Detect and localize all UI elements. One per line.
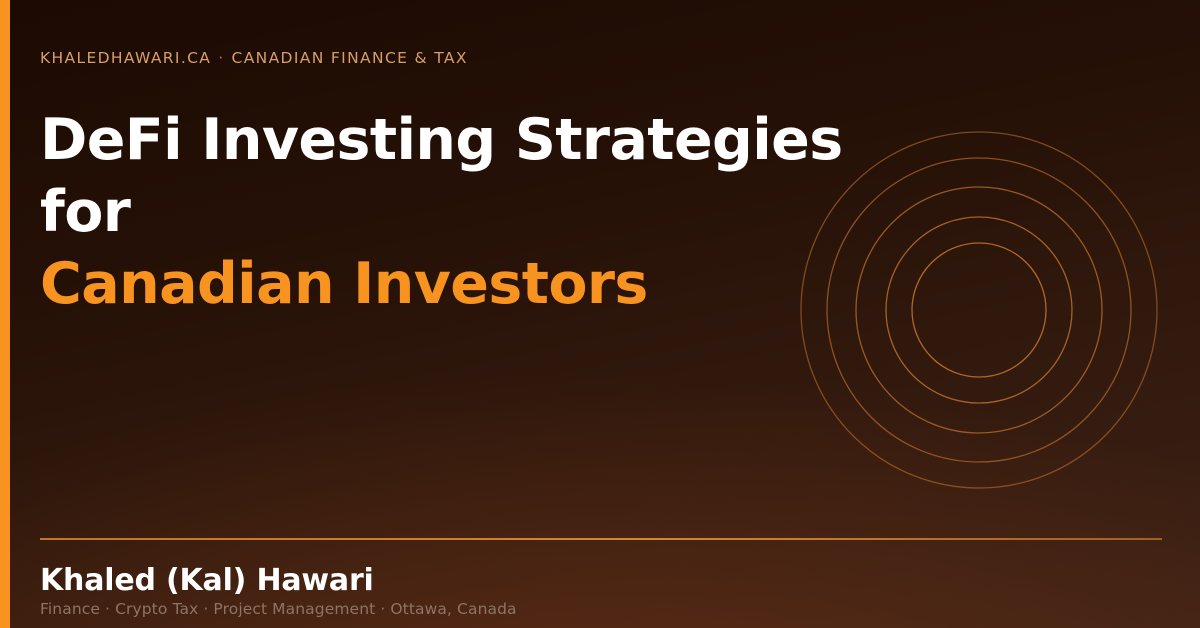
author-name: Khaled (Kal) Hawari — [40, 562, 374, 600]
footer-divider — [40, 538, 1162, 540]
brand-site-label: KHALEDHAWARI.CA — [40, 49, 211, 67]
breadcrumb-separator: · — [211, 49, 231, 67]
breadcrumb: KHALEDHAWARI.CA·CANADIAN FINANCE & TAX — [40, 49, 468, 67]
left-accent-bar — [0, 0, 10, 628]
brand-category-label: CANADIAN FINANCE & TAX — [232, 49, 468, 67]
social-share-card: KHALEDHAWARI.CA·CANADIAN FINANCE & TAX D… — [0, 0, 1200, 628]
card-content: KHALEDHAWARI.CA·CANADIAN FINANCE & TAX D… — [0, 0, 1200, 628]
author-meta: Finance · Crypto Tax · Project Managemen… — [40, 599, 517, 619]
page-title-line-2: Canadian Investors — [40, 248, 940, 320]
page-title: DeFi Investing Strategies for Canadian I… — [40, 104, 940, 320]
page-title-line-1: DeFi Investing Strategies for — [40, 104, 940, 248]
